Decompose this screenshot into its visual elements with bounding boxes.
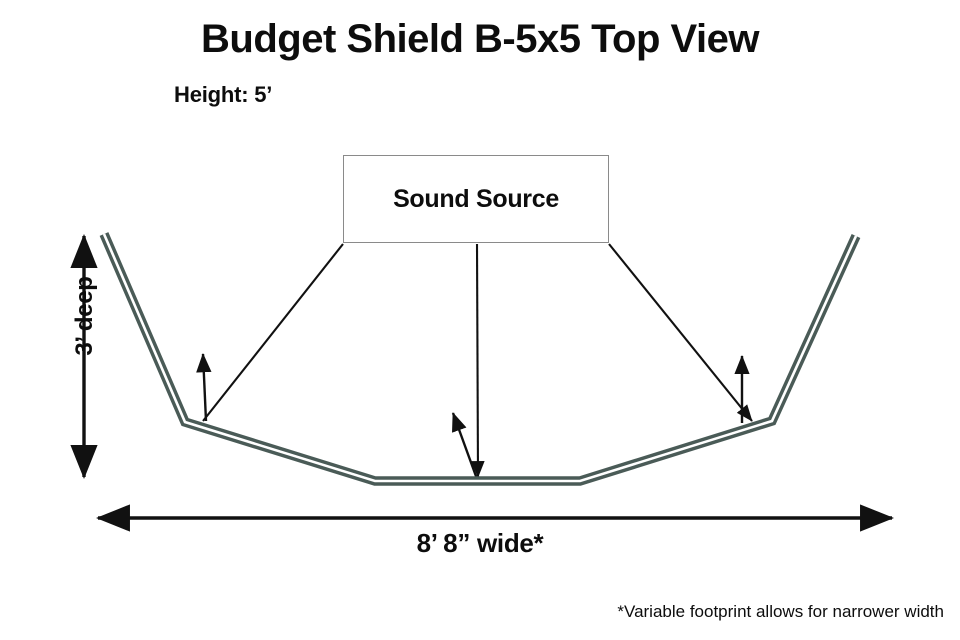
leader-lines <box>203 244 752 477</box>
joint-pointer-left <box>203 354 206 421</box>
width-dimension-label: 8’ 8” wide* <box>0 528 960 559</box>
diagram-canvas: Budget Shield B-5x5 Top View Height: 5’ … <box>0 0 960 640</box>
joint-pointer-center <box>453 413 477 479</box>
depth-dimension-label: 3’ deep <box>71 271 99 361</box>
height-subtitle: Height: 5’ <box>174 82 272 108</box>
sound-source-box: Sound Source <box>343 155 609 243</box>
page-title: Budget Shield B-5x5 Top View <box>0 18 960 60</box>
sound-source-label: Sound Source <box>393 185 559 214</box>
leader-line-left <box>203 244 343 421</box>
footnote-text: *Variable footprint allows for narrower … <box>617 602 944 622</box>
leader-line-center <box>477 244 478 477</box>
leader-line-right <box>609 244 752 421</box>
